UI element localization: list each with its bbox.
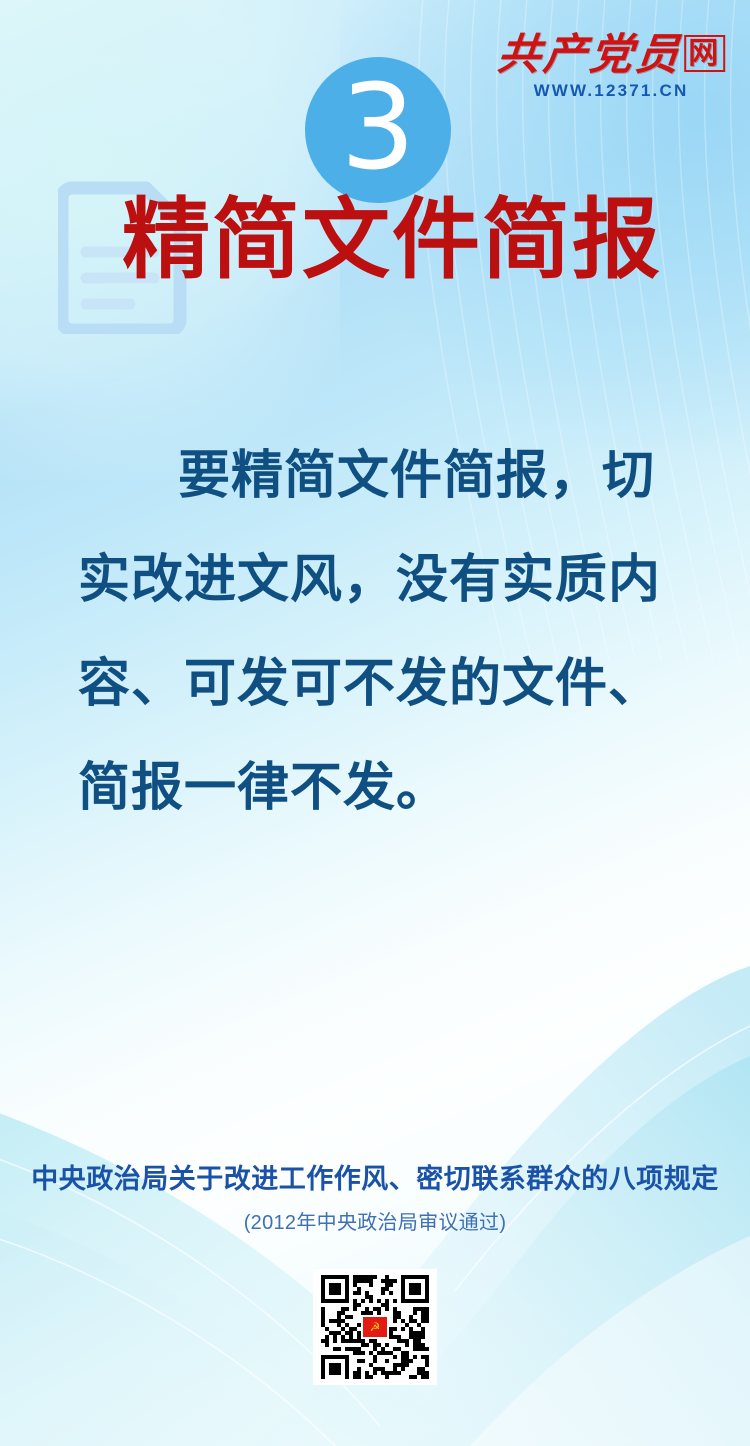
party-emblem-icon: ☭ bbox=[363, 1317, 387, 1337]
footer-title: 中央政治局关于改进工作作风、密切联系群众的八项规定 bbox=[0, 1157, 750, 1196]
brand-logo-text: 共产党员 bbox=[495, 32, 684, 79]
body-paragraph: 要精简文件简报，切实改进文风，没有实质内容、可发可不发的文件、简报一律不发。 bbox=[78, 424, 678, 840]
brand-url: WWW.12371.CN bbox=[496, 82, 726, 99]
qr-code-canvas: ☭ bbox=[321, 1275, 429, 1379]
brand-logo-boxed-char: 网 bbox=[684, 35, 725, 72]
number-badge: 3 bbox=[305, 57, 451, 203]
number-badge-value: 3 bbox=[340, 68, 415, 186]
party-emblem-glyph: ☭ bbox=[370, 1321, 381, 1333]
brand-logo-mark: 共产党员网 bbox=[494, 34, 729, 77]
footer-subtitle: (2012年中央政治局审议通过) bbox=[0, 1206, 750, 1235]
brand-logo: 共产党员网 WWW.12371.CN bbox=[496, 34, 726, 99]
qr-code[interactable]: ☭ bbox=[313, 1269, 437, 1385]
page-title: 精简文件简报 bbox=[122, 196, 662, 284]
poster-root: 共产党员网 WWW.12371.CN 3 精简文件简报 要精简文件简报，切实改进… bbox=[0, 0, 750, 1446]
